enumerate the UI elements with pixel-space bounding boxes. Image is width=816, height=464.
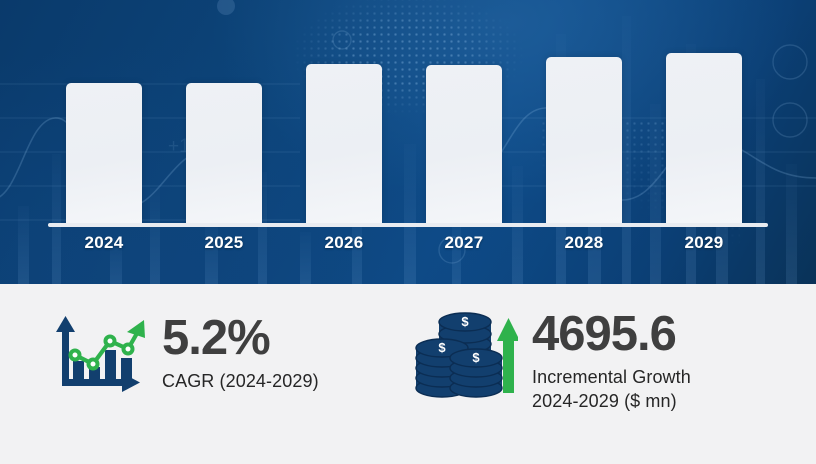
x-axis-label-2024: 2024 (66, 233, 142, 253)
bar-2025 (186, 83, 262, 224)
x-axis-label-2025: 2025 (186, 233, 262, 253)
x-axis-label-2027: 2027 (426, 233, 502, 253)
stat-cagr-value: 5.2% (162, 314, 319, 364)
stat-cagr-label: CAGR (2024-2029) (162, 370, 319, 394)
x-axis-line (48, 223, 768, 227)
stat-growth-value: 4695.6 (532, 310, 691, 360)
coin-stacks-icon: $ $ (412, 310, 518, 405)
bar-series: 2024 2025 2026 2027 2028 2029 (0, 0, 816, 284)
bar-2029 (666, 53, 742, 224)
coin-stack-right: $ (450, 349, 502, 397)
stats-panel: 5.2% CAGR (2024-2029) (0, 284, 816, 464)
x-axis-label-2029: 2029 (666, 233, 742, 253)
stat-growth-text: 4695.6 Incremental Growth 2024-2029 ($ m… (532, 310, 691, 414)
stat-incremental-growth: $ $ (412, 310, 691, 414)
chart-panel: +1.45% 2024 2025 2026 2027 2028 2029 (0, 0, 816, 284)
bar-2026 (306, 64, 382, 224)
svg-text:$: $ (472, 350, 480, 365)
bar-2024 (66, 83, 142, 224)
stat-cagr-text: 5.2% CAGR (2024-2029) (162, 314, 319, 394)
svg-text:$: $ (438, 340, 446, 355)
x-axis-label-2026: 2026 (306, 233, 382, 253)
stat-growth-label: Incremental Growth 2024-2029 ($ mn) (532, 366, 691, 414)
market-summary-infographic: +1.45% 2024 2025 2026 2027 2028 2029 (0, 0, 816, 464)
x-axis-label-2028: 2028 (546, 233, 622, 253)
bar-2027 (426, 65, 502, 224)
bar-2028 (546, 57, 622, 224)
growth-chart-icon (48, 314, 148, 405)
svg-text:$: $ (461, 314, 469, 329)
stat-cagr: 5.2% CAGR (2024-2029) (48, 314, 319, 405)
